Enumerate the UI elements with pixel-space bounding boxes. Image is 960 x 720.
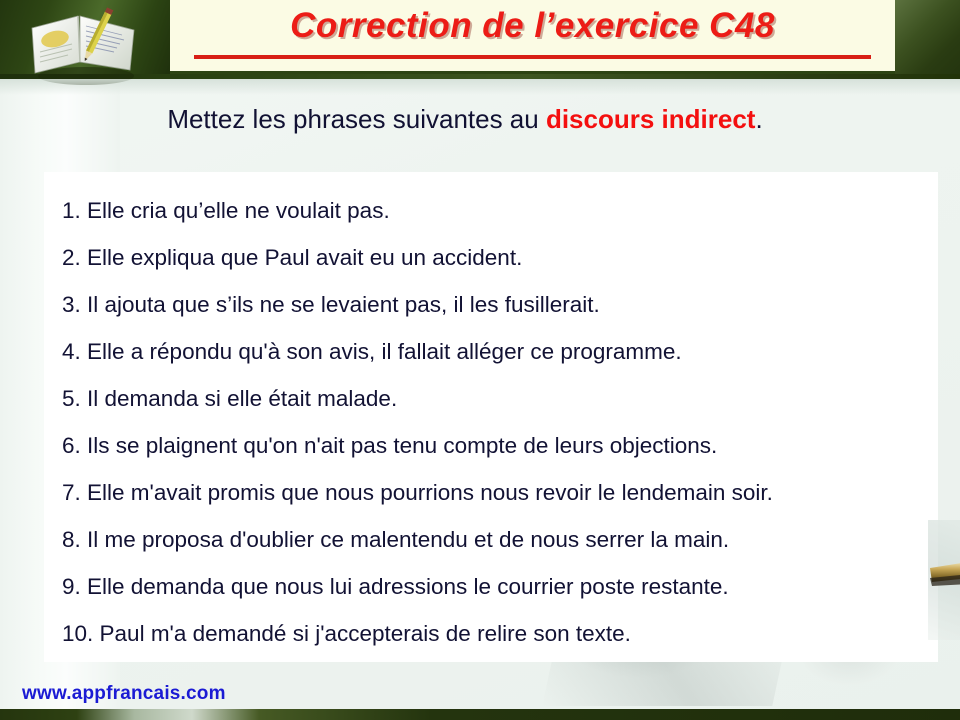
- title-underline: [194, 55, 871, 59]
- footer-strip: [0, 709, 960, 720]
- list-item: 4. Elle a répondu qu'à son avis, il fall…: [56, 329, 938, 376]
- open-book-with-pencil-icon: [22, 6, 148, 88]
- list-item: 2. Elle expliqua que Paul avait eu un ac…: [56, 235, 938, 282]
- page-title: Correction de l’exercice C48: [170, 6, 895, 46]
- instruction-prefix: Mettez les phrases suivantes au: [167, 104, 546, 134]
- list-item: 10. Paul m'a demandé si j'accepterais de…: [56, 611, 938, 658]
- instruction-line: Mettez les phrases suivantes au discours…: [0, 104, 930, 135]
- footer-website-url[interactable]: www.appfrancais.com: [22, 683, 226, 705]
- slide: Correction de l’exercice C48: [0, 0, 960, 720]
- list-item: 7. Elle m'avait promis que nous pourrion…: [56, 470, 938, 517]
- list-item: 9. Elle demanda que nous lui adressions …: [56, 564, 938, 611]
- header: Correction de l’exercice C48: [0, 0, 960, 80]
- list-item: 3. Il ajouta que s’ils ne se levaient pa…: [56, 282, 938, 329]
- instruction-suffix: .: [755, 104, 762, 134]
- title-band: Correction de l’exercice C48: [170, 0, 895, 74]
- list-item: 8. Il me proposa d'oublier ce malentendu…: [56, 517, 938, 564]
- list-item: 6. Ils se plaignent qu'on n'ait pas tenu…: [56, 423, 938, 470]
- list-item: 1. Elle cria qu’elle ne voulait pas.: [56, 188, 938, 235]
- header-green-right-block: [893, 0, 960, 78]
- exercise-list-panel: 1. Elle cria qu’elle ne voulait pas. 2. …: [44, 172, 938, 662]
- list-item: 5. Il demanda si elle était malade.: [56, 376, 938, 423]
- instruction-highlight: discours indirect: [546, 104, 756, 134]
